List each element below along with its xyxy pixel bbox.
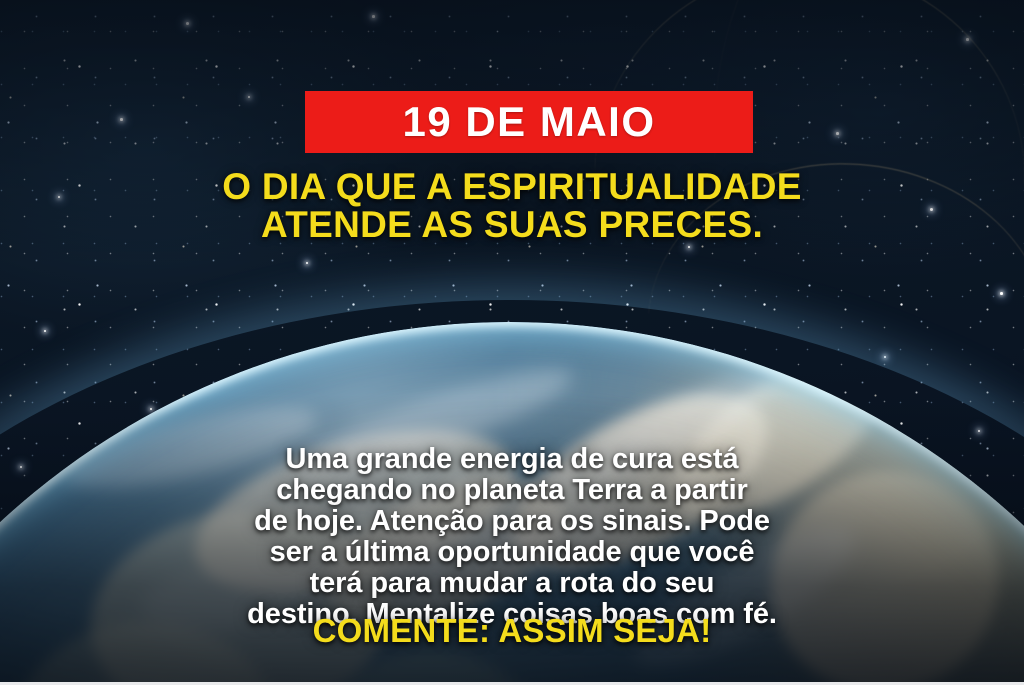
date-banner-label: 19 DE MAIO xyxy=(402,101,655,143)
poster-content: 19 DE MAIO O DIA QUE A ESPIRITUALIDADE A… xyxy=(0,0,1024,685)
date-banner: 19 DE MAIO xyxy=(305,91,753,153)
body-line: chegando no planeta Terra a partir xyxy=(0,475,1024,506)
call-to-action-label: COMENTE: ASSIM SEJA! xyxy=(313,612,712,649)
headline-line-1: O DIA QUE A ESPIRITUALIDADE xyxy=(222,166,802,207)
body-copy: Uma grande energia de cura está chegando… xyxy=(0,444,1024,630)
headline-line-2: ATENDE AS SUAS PRECES. xyxy=(0,206,1024,244)
body-line: ser a última oportunidade que você xyxy=(0,537,1024,568)
call-to-action: COMENTE: ASSIM SEJA! xyxy=(0,613,1024,649)
headline: O DIA QUE A ESPIRITUALIDADE ATENDE AS SU… xyxy=(0,168,1024,244)
body-line: Uma grande energia de cura está xyxy=(0,444,1024,475)
poster-root: 19 DE MAIO O DIA QUE A ESPIRITUALIDADE A… xyxy=(0,0,1024,685)
body-line: terá para mudar a rota do seu xyxy=(0,568,1024,599)
body-line: de hoje. Atenção para os sinais. Pode xyxy=(0,506,1024,537)
